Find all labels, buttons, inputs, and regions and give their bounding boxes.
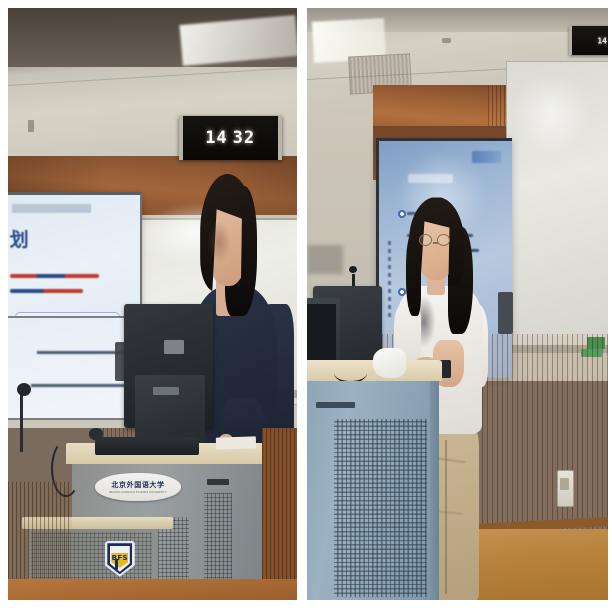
- clock-digits: 14: [597, 36, 607, 45]
- photo-panel-left[interactable]: 14 32 划: [8, 8, 297, 600]
- emblem-letters: BFS: [111, 553, 128, 564]
- speaker-face-shading: [207, 221, 230, 262]
- whiteboard-glare: [512, 73, 590, 156]
- wood-paneling-right: [262, 428, 297, 582]
- wall-shadow: [307, 245, 343, 275]
- slide-title-text: 划: [10, 225, 30, 252]
- mouse: [89, 428, 103, 440]
- digital-wall-clock: 14: [569, 26, 608, 56]
- lectern-nameplate: 北京外国语大学 BEIJING FOREIGN STUDIES UNIVERSI…: [95, 473, 182, 500]
- nameplate-chinese-text: 北京外国语大学: [111, 480, 164, 490]
- slide-text-line: [10, 289, 83, 293]
- paper-sheet: [216, 436, 257, 449]
- keyboard: [95, 437, 199, 455]
- photo-collage: 14 32 划: [0, 0, 612, 612]
- tissue-paper: [373, 348, 406, 378]
- photo-panel-right[interactable]: 14: [307, 8, 608, 600]
- glasses-bridge: [433, 242, 438, 243]
- slide-text-line: [10, 274, 100, 278]
- laptop-bezel-logo: [153, 387, 179, 395]
- monitor-logo: [164, 340, 184, 354]
- wood-paneling-left: [8, 482, 72, 583]
- lectern-handle-slot: [316, 402, 355, 408]
- clock-hours: 14: [205, 128, 227, 148]
- ceiling-sprinkler: [442, 38, 451, 43]
- slide-header-bar: [12, 204, 91, 213]
- lectern-perforated-panel: [334, 419, 427, 597]
- nameplate-english-text: BEIJING FOREIGN STUDIES UNIVERSITY: [109, 491, 167, 494]
- microphone-stand: [20, 393, 23, 452]
- lectern-handle-slot: [207, 479, 229, 485]
- digital-wall-clock: 14 32: [179, 116, 282, 160]
- wall-speaker: [498, 292, 513, 333]
- floor: [8, 579, 297, 600]
- university-emblem: BFS: [105, 541, 135, 577]
- lectern-edge: [430, 381, 439, 600]
- slide-sidebar-text: [388, 241, 391, 322]
- slide-text-line: [37, 351, 124, 354]
- clock-minutes: 32: [233, 128, 255, 148]
- trouser-seam: [445, 440, 447, 594]
- ceiling-fixture: [28, 120, 34, 132]
- wall-outlet-socket: [560, 478, 569, 490]
